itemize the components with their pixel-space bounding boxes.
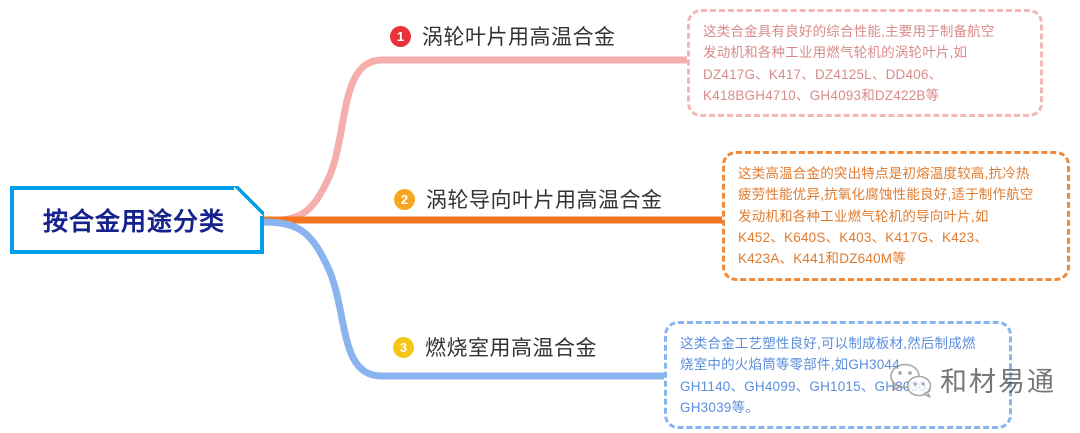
badge-number-1: 1 xyxy=(390,26,411,47)
badge-number-2: 2 xyxy=(394,189,415,210)
description-box-1: 这类合金具有良好的综合性能,主要用于制备航空 发动机和各种工业用燃气轮机的涡轮叶… xyxy=(687,9,1043,117)
branch-label-1[interactable]: 1 涡轮叶片用高温合金 xyxy=(390,21,616,51)
branch-text-3: 燃烧室用高温合金 xyxy=(425,332,597,362)
branch-text-2: 涡轮导向叶片用高温合金 xyxy=(426,184,663,214)
branch-text-1: 涡轮叶片用高温合金 xyxy=(422,21,616,51)
branch-label-3[interactable]: 3 燃烧室用高温合金 xyxy=(393,332,597,362)
description-text-1: 这类合金具有良好的综合性能,主要用于制备航空 发动机和各种工业用燃气轮机的涡轮叶… xyxy=(703,21,1027,106)
description-text-2: 这类高温合金的突出特点是初熔温度较高,抗冷热 疲劳性能优异,抗氧化腐蚀性能良好,… xyxy=(738,163,1054,270)
root-node[interactable]: 按合金用途分类 xyxy=(10,186,264,254)
description-box-2: 这类高温合金的突出特点是初熔温度较高,抗冷热 疲劳性能优异,抗氧化腐蚀性能良好,… xyxy=(722,151,1070,281)
folded-corner-icon xyxy=(234,186,264,216)
description-box-3: 这类合金工艺塑性良好,可以制成板材,然后制成燃 烧室中的火焰筒等零部件,如GH3… xyxy=(664,321,1012,429)
mindmap-canvas: 按合金用途分类 1 涡轮叶片用高温合金 2 涡轮导向叶片用高温合金 3 燃烧室用… xyxy=(0,0,1080,433)
root-node-label: 按合金用途分类 xyxy=(43,202,225,238)
badge-number-3: 3 xyxy=(393,337,414,358)
branch-label-2[interactable]: 2 涡轮导向叶片用高温合金 xyxy=(394,184,663,214)
description-text-3: 这类合金工艺塑性良好,可以制成板材,然后制成燃 烧室中的火焰筒等零部件,如GH3… xyxy=(680,333,996,418)
